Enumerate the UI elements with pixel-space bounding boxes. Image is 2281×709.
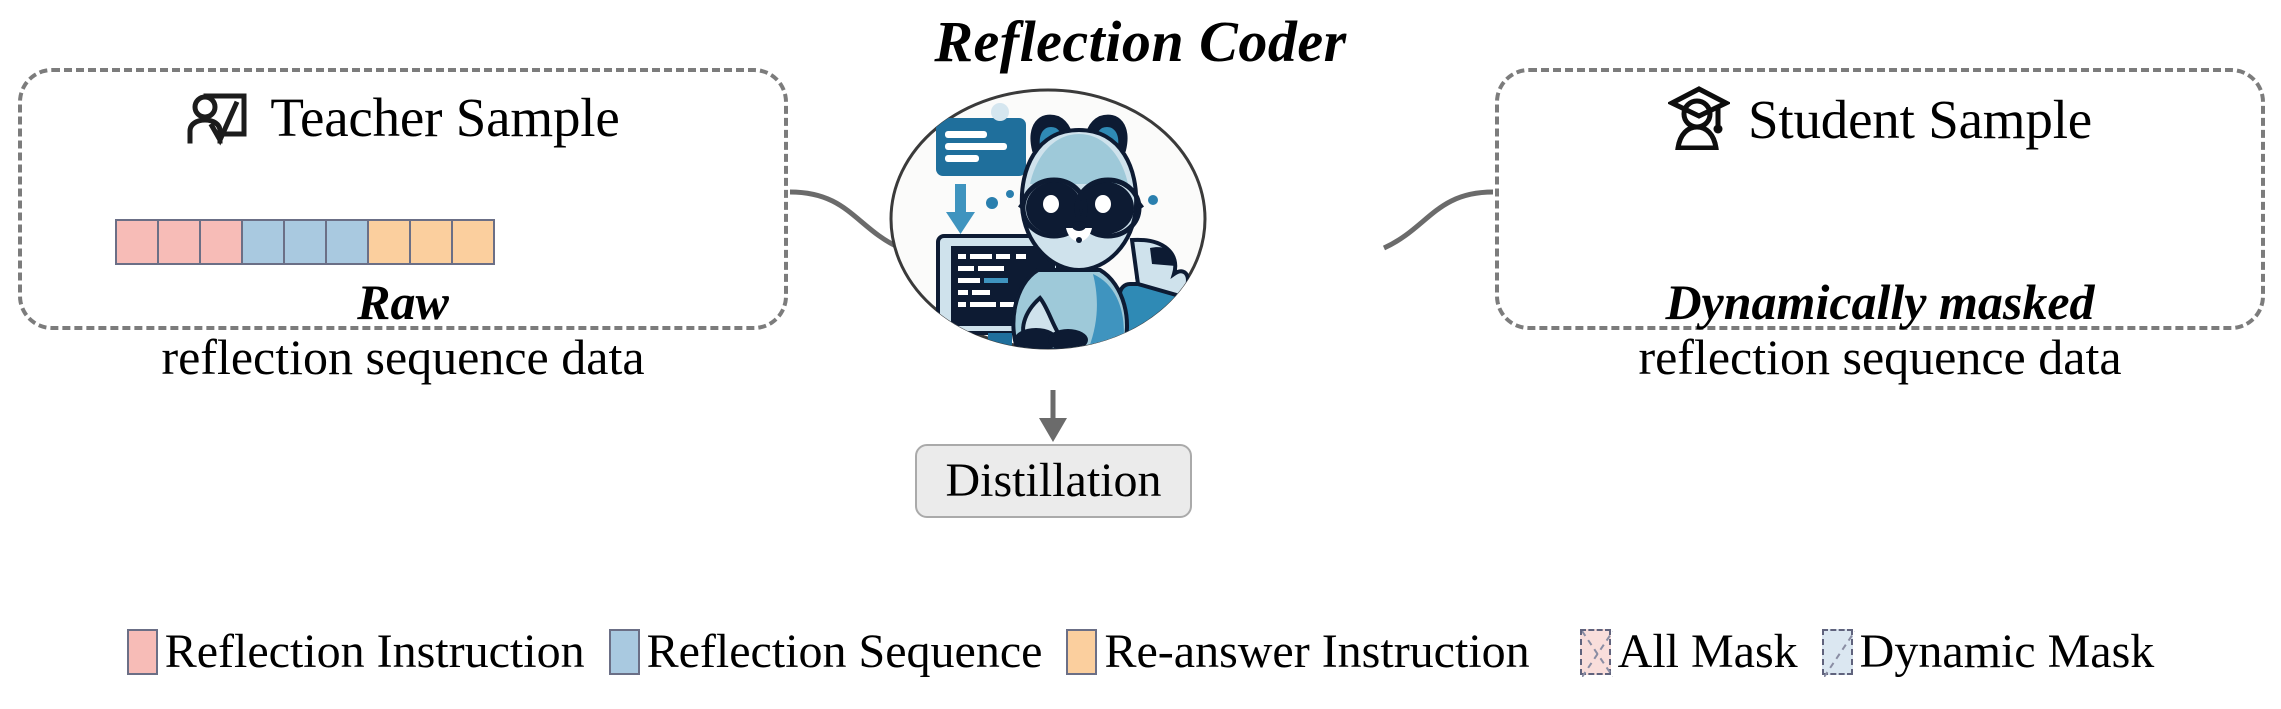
token-cell-reflection-instruction bbox=[157, 219, 201, 265]
teacher-panel-header: Teacher Sample bbox=[22, 84, 784, 151]
legend-item: Dynamic Mask bbox=[1822, 628, 2155, 676]
distillation-label: Distillation bbox=[946, 457, 1162, 505]
legend-label: Re-answer Instruction bbox=[1104, 628, 1529, 676]
teacher-caption: Raw reflection sequence data bbox=[22, 276, 784, 385]
legend-swatch-reflection-sequence bbox=[609, 629, 640, 675]
down-arrow-icon bbox=[1039, 418, 1067, 442]
legend-item: Re-answer Instruction bbox=[1066, 628, 1529, 676]
teacher-caption-plain: reflection sequence data bbox=[22, 329, 784, 385]
legend-swatch-dynamic-mask bbox=[1822, 629, 1853, 675]
student-panel-title: Student Sample bbox=[1748, 92, 2092, 147]
legend-swatch-re-answer-instruction bbox=[1066, 629, 1097, 675]
connector-teacher-to-center bbox=[790, 192, 900, 248]
teacher-check-icon bbox=[186, 84, 252, 151]
legend-swatch-all-mask bbox=[1580, 629, 1611, 675]
token-cell-re-answer-instruction bbox=[451, 219, 495, 265]
connector-student-to-center bbox=[1384, 192, 1493, 248]
teacher-sample-panel: Teacher Sample Raw reflection sequence d… bbox=[18, 68, 788, 330]
page-title: Reflection Coder bbox=[0, 8, 2281, 75]
legend-item: Reflection Instruction bbox=[127, 628, 585, 676]
student-panel-header: Student Sample bbox=[1499, 84, 2261, 155]
legend-label: Dynamic Mask bbox=[1860, 628, 2155, 676]
dynamic-mask-hatch-icon bbox=[1824, 631, 1855, 677]
graduate-student-icon bbox=[1668, 84, 1730, 155]
student-caption-strong: Dynamically masked bbox=[1499, 276, 2261, 329]
teacher-panel-title: Teacher Sample bbox=[270, 90, 619, 145]
token-cell-reflection-instruction bbox=[199, 219, 243, 265]
figure-root: Reflection Coder bbox=[0, 0, 2281, 709]
legend-label: Reflection Sequence bbox=[647, 628, 1043, 676]
legend-label: All Mask bbox=[1618, 628, 1798, 676]
teacher-caption-strong: Raw bbox=[22, 276, 784, 329]
student-caption: Dynamically masked reflection sequence d… bbox=[1499, 276, 2261, 385]
student-sample-panel: Student Sample Dynamically masked reflec… bbox=[1495, 68, 2265, 330]
token-cell-reflection-sequence bbox=[283, 219, 327, 265]
legend-item: Reflection Sequence bbox=[609, 628, 1043, 676]
token-cell-re-answer-instruction bbox=[409, 219, 453, 265]
legend-item: All Mask bbox=[1580, 628, 1798, 676]
legend-label: Reflection Instruction bbox=[165, 628, 585, 676]
legend: Reflection InstructionReflection Sequenc… bbox=[0, 628, 2281, 676]
token-cell-reflection-sequence bbox=[241, 219, 285, 265]
legend-swatch-reflection-instruction bbox=[127, 629, 158, 675]
raccoon-coder-mascot bbox=[888, 88, 1208, 350]
distillation-node: Distillation bbox=[915, 444, 1192, 518]
token-cell-reflection-instruction bbox=[115, 219, 159, 265]
student-caption-plain: reflection sequence data bbox=[1499, 329, 2261, 385]
teacher-token-bar bbox=[115, 219, 495, 265]
token-cell-re-answer-instruction bbox=[367, 219, 411, 265]
all-mask-hatch-icon bbox=[1582, 631, 1613, 677]
token-cell-reflection-sequence bbox=[325, 219, 369, 265]
